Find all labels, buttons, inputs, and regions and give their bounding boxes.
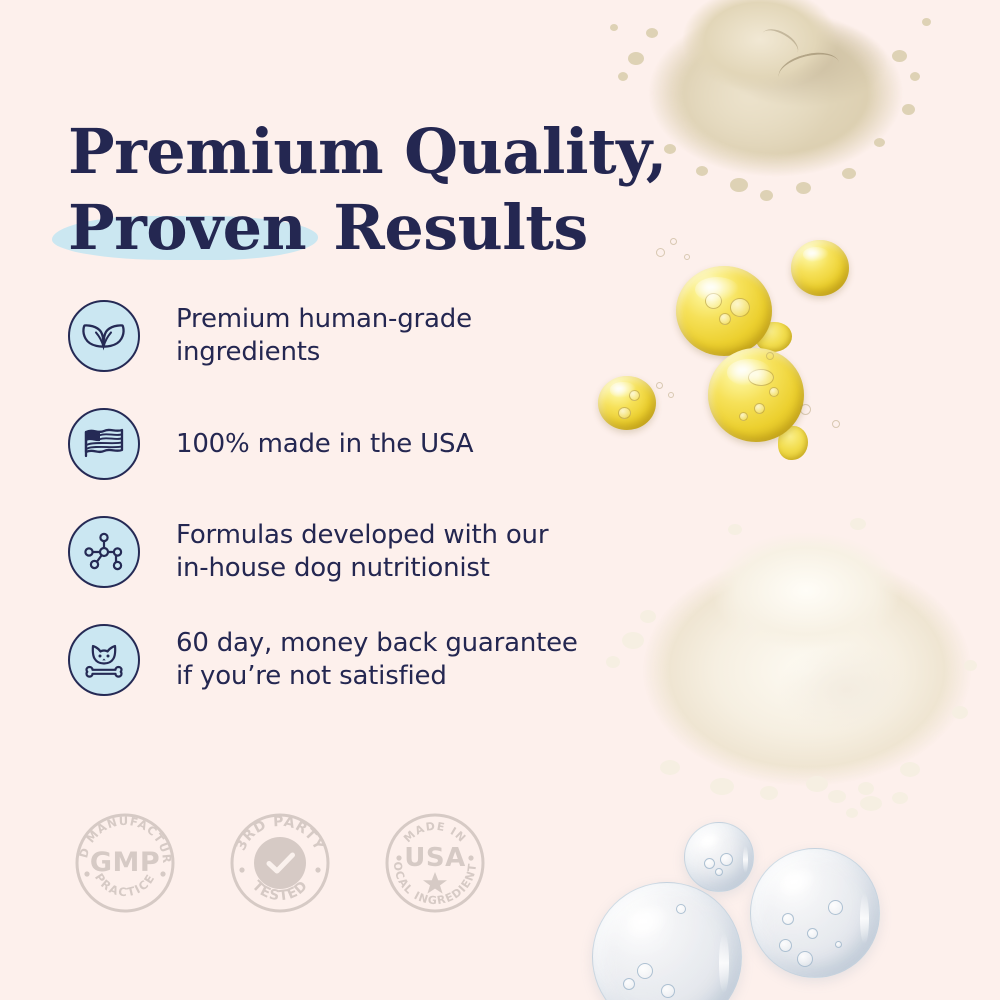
gmp-badge: GOOD MANUFACTURING PRACTICE GMP bbox=[70, 808, 180, 918]
feature-item-made-in-usa: 100% made in the USA bbox=[68, 408, 648, 480]
feature-list: Premium human-gradeingredients bbox=[68, 300, 648, 732]
headline-line-1: Premium Quality, bbox=[68, 114, 668, 190]
feature-item-guarantee: 60 day, money back guaranteeif you’re no… bbox=[68, 624, 648, 696]
white-powder-mound bbox=[600, 510, 1000, 820]
leaf-icon bbox=[68, 300, 140, 372]
feature-label: Premium human-gradeingredients bbox=[176, 303, 472, 369]
promo-panel: Premium Quality, Proven Results Premium … bbox=[0, 0, 1000, 1000]
page-title: Premium Quality, Proven Results bbox=[68, 114, 668, 266]
content-column: Premium Quality, Proven Results Premium … bbox=[0, 0, 660, 1000]
made-in-usa-badge: MADE IN LOCAL INGREDIENTS USA bbox=[380, 808, 490, 918]
usa-center-label: USA bbox=[404, 843, 465, 873]
feature-label: 100% made in the USA bbox=[176, 428, 473, 461]
usa-flag-icon bbox=[68, 408, 140, 480]
feature-item-ingredients: Premium human-gradeingredients bbox=[68, 300, 648, 372]
feature-item-nutritionist: Formulas developed with ourin-house dog … bbox=[68, 516, 648, 588]
headline-line-2: Proven Results bbox=[68, 190, 668, 266]
certification-badges: GOOD MANUFACTURING PRACTICE GMP bbox=[70, 808, 490, 918]
star-icon bbox=[423, 872, 447, 894]
feature-label: Formulas developed with ourin-house dog … bbox=[176, 519, 548, 585]
usa-arc-top: MADE IN bbox=[401, 820, 469, 846]
headline-line-2-rest: Results bbox=[312, 191, 588, 264]
feature-label: 60 day, money back guaranteeif you’re no… bbox=[176, 627, 578, 693]
gmp-center-label: GMP bbox=[90, 847, 160, 878]
svg-text:MADE IN: MADE IN bbox=[401, 820, 469, 846]
dog-bone-icon bbox=[68, 624, 140, 696]
third-party-tested-badge: 3RD PARTY TESTED bbox=[225, 808, 335, 918]
headline-highlight-word: Proven bbox=[62, 190, 312, 266]
molecule-icon bbox=[68, 516, 140, 588]
